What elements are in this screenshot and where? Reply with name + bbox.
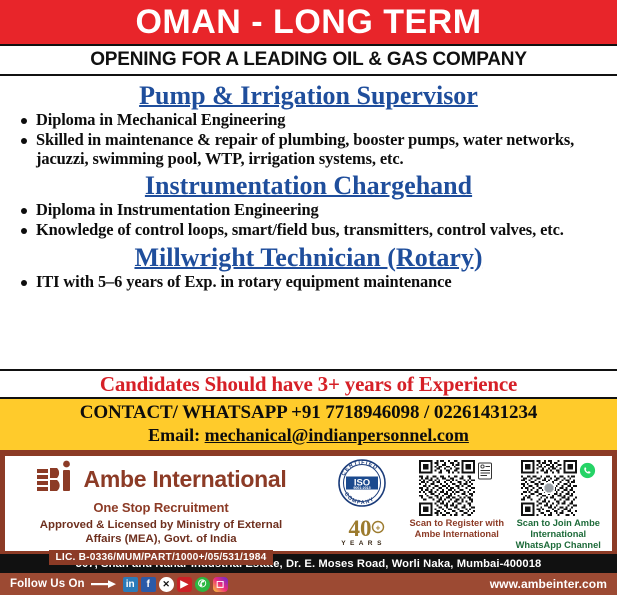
email-label: Email: bbox=[148, 425, 200, 445]
forty-years-icon: 40 + Y E A R S bbox=[332, 511, 392, 551]
brand-names: Ambe International bbox=[84, 468, 287, 491]
job-title: Millwright Technician (Rotary) bbox=[8, 243, 609, 272]
iso-certified-icon: ISO 9001:2015 CERTIFIED COMPANY bbox=[334, 458, 390, 508]
social-left-group: Follow Us On in f ✕ ▶ ✆ ◻ bbox=[10, 577, 228, 592]
facebook-icon[interactable]: f bbox=[141, 577, 156, 592]
instagram-icon[interactable]: ◻ bbox=[213, 577, 228, 592]
jobs-section: Pump & Irrigation Supervisor Diploma in … bbox=[0, 76, 617, 369]
experience-requirement-bar: Candidates Should have 3+ years of Exper… bbox=[0, 369, 617, 399]
brand-block: Ambe International One Stop Recruitment … bbox=[0, 456, 318, 551]
job-advertisement: OMAN - LONG TERM OPENING FOR A LEADING O… bbox=[0, 0, 617, 595]
requirement-list: ITI with 5–6 years of Exp. in rotary equ… bbox=[14, 273, 609, 292]
svg-text:Y E A R S: Y E A R S bbox=[341, 540, 383, 547]
qr-top-row bbox=[419, 460, 494, 516]
whatsapp-icon[interactable]: ✆ bbox=[195, 577, 210, 592]
company-tagline: One Stop Recruitment bbox=[93, 500, 228, 515]
qr-code-whatsapp-icon[interactable] bbox=[521, 460, 577, 516]
contact-email[interactable]: mechanical@indianpersonnel.com bbox=[205, 425, 469, 445]
job-listing: Millwright Technician (Rotary) ITI with … bbox=[8, 243, 609, 292]
qr-top-row bbox=[521, 460, 596, 516]
approval-line-1: Approved & Licensed by Ministry of Exter… bbox=[40, 518, 282, 532]
company-footer: Ambe International One Stop Recruitment … bbox=[0, 453, 617, 554]
qr-block-register: Scan to Register with Ambe International bbox=[409, 460, 505, 540]
x-twitter-icon[interactable]: ✕ bbox=[159, 577, 174, 592]
linkedin-icon[interactable]: in bbox=[123, 577, 138, 592]
job-title: Instrumentation Chargehand bbox=[8, 171, 609, 200]
qr-caption: Scan to Join Ambe International WhatsApp… bbox=[510, 518, 606, 551]
header-banner: OMAN - LONG TERM bbox=[0, 0, 617, 46]
contact-phone[interactable]: CONTACT/ WHATSAPP +91 7718946098 / 02261… bbox=[0, 402, 617, 424]
whatsapp-icon bbox=[579, 461, 596, 480]
contact-section: CONTACT/ WHATSAPP +91 7718946098 / 02261… bbox=[0, 399, 617, 453]
company-approval: Approved & Licensed by Ministry of Exter… bbox=[40, 518, 282, 547]
certification-badges: ISO 9001:2015 CERTIFIED COMPANY 40 + Y E… bbox=[318, 456, 406, 551]
experience-note: Candidates Should have 3+ years of Exper… bbox=[100, 372, 517, 397]
brand-row: Ambe International bbox=[36, 460, 287, 498]
page-title: OMAN - LONG TERM bbox=[135, 5, 481, 39]
job-listing: Pump & Irrigation Supervisor Diploma in … bbox=[8, 81, 609, 168]
qr-code-register-icon[interactable] bbox=[419, 460, 475, 516]
svg-text:COMPANY: COMPANY bbox=[343, 491, 376, 506]
header-subtitle-bar: OPENING FOR A LEADING OIL & GAS COMPANY bbox=[0, 46, 617, 76]
follow-us-label: Follow Us On bbox=[10, 578, 85, 590]
license-badge: LIC. B-0336/MUM/PART/1000+/05/531/1984 bbox=[49, 550, 274, 565]
list-item: Knowledge of control loops, smart/field … bbox=[14, 221, 609, 240]
qr-block-whatsapp: Scan to Join Ambe International WhatsApp… bbox=[510, 460, 606, 551]
contact-email-row: Email: mechanical@indianpersonnel.com bbox=[0, 425, 617, 446]
social-bar: Follow Us On in f ✕ ▶ ✆ ◻ www.ambeinter.… bbox=[0, 573, 617, 595]
requirement-list: Diploma in Mechanical Engineering Skille… bbox=[14, 111, 609, 168]
social-icon-group: in f ✕ ▶ ✆ ◻ bbox=[123, 577, 228, 592]
svg-text:40: 40 bbox=[349, 516, 372, 541]
qr-codes-section: Scan to Register with Ambe International bbox=[406, 456, 617, 551]
youtube-icon[interactable]: ▶ bbox=[177, 577, 192, 592]
job-listing: Instrumentation Chargehand Diploma in In… bbox=[8, 171, 609, 240]
qr-caption: Scan to Register with Ambe International bbox=[409, 518, 505, 540]
requirement-list: Diploma in Instrumentation Engineering K… bbox=[14, 201, 609, 239]
svg-text:9001:2015: 9001:2015 bbox=[353, 486, 370, 490]
form-icon bbox=[477, 461, 494, 480]
company-name: Ambe International bbox=[84, 468, 287, 491]
page-subtitle: OPENING FOR A LEADING OIL & GAS COMPANY bbox=[90, 49, 527, 71]
website-link[interactable]: www.ambeinter.com bbox=[490, 577, 607, 591]
arrow-right-icon bbox=[91, 579, 117, 589]
list-item: Skilled in maintenance & repair of plumb… bbox=[14, 131, 609, 168]
svg-text:+: + bbox=[376, 524, 381, 533]
job-title: Pump & Irrigation Supervisor bbox=[8, 81, 609, 110]
list-item: ITI with 5–6 years of Exp. in rotary equ… bbox=[14, 273, 609, 292]
list-item: Diploma in Mechanical Engineering bbox=[14, 111, 609, 130]
approval-line-2: Affairs (MEA), Govt. of India bbox=[40, 532, 282, 546]
list-item: Diploma in Instrumentation Engineering bbox=[14, 201, 609, 220]
ambe-logo-icon bbox=[36, 460, 78, 498]
